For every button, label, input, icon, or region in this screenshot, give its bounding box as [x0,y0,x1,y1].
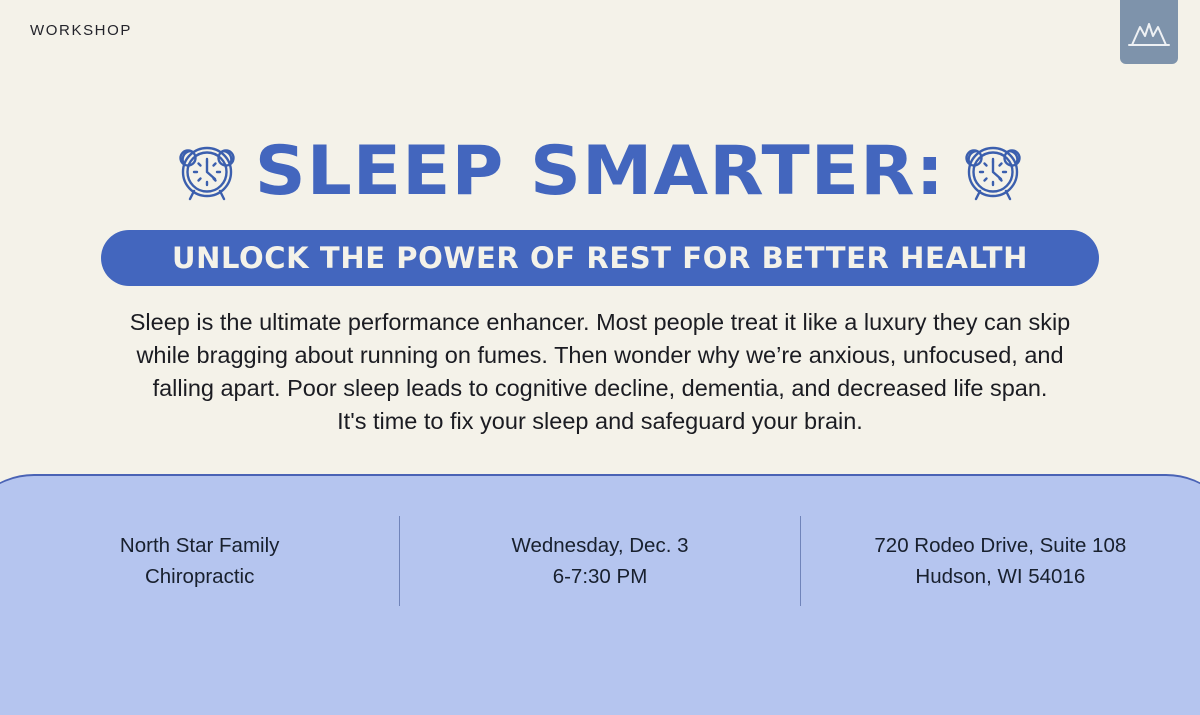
event-details-grid: North Star Family Chiropractic Wednesday… [0,476,1200,646]
hero-title-row: SLEEP SMARTER: [0,132,1200,211]
mountain-peaks-icon [1128,18,1170,50]
address-line-2: Hudson, WI 54016 [815,561,1186,592]
address-column: 720 Rodeo Drive, Suite 108 Hudson, WI 54… [801,530,1200,592]
kicker-label: WORKSHOP [30,22,132,39]
description-line-2: while bragging about running on fumes. T… [60,339,1140,372]
event-details-panel: North Star Family Chiropractic Wednesday… [0,474,1200,715]
datetime-column: Wednesday, Dec. 3 6-7:30 PM [400,530,799,592]
venue-column: North Star Family Chiropractic [0,530,399,592]
description-line-1: Sleep is the ultimate performance enhanc… [60,306,1140,339]
time-line: 6-7:30 PM [414,561,785,592]
alarm-clock-icon [956,132,1030,211]
venue-line-2: Chiropractic [14,561,385,592]
subtitle-text: UNLOCK THE POWER OF REST FOR BETTER HEAL… [172,241,1028,275]
venue-line-1: North Star Family [14,530,385,561]
description-block: Sleep is the ultimate performance enhanc… [60,306,1140,438]
address-line-1: 720 Rodeo Drive, Suite 108 [815,530,1186,561]
page-title: SLEEP SMARTER: [255,138,945,206]
date-line: Wednesday, Dec. 3 [414,530,785,561]
column-divider [800,516,801,606]
column-divider [399,516,400,606]
subtitle-banner: UNLOCK THE POWER OF REST FOR BETTER HEAL… [101,230,1099,286]
mountain-peaks-logo [1120,0,1178,64]
alarm-clock-icon [170,132,244,211]
description-line-4: It's time to fix your sleep and safeguar… [60,405,1140,438]
description-line-3: falling apart. Poor sleep leads to cogni… [60,372,1140,405]
